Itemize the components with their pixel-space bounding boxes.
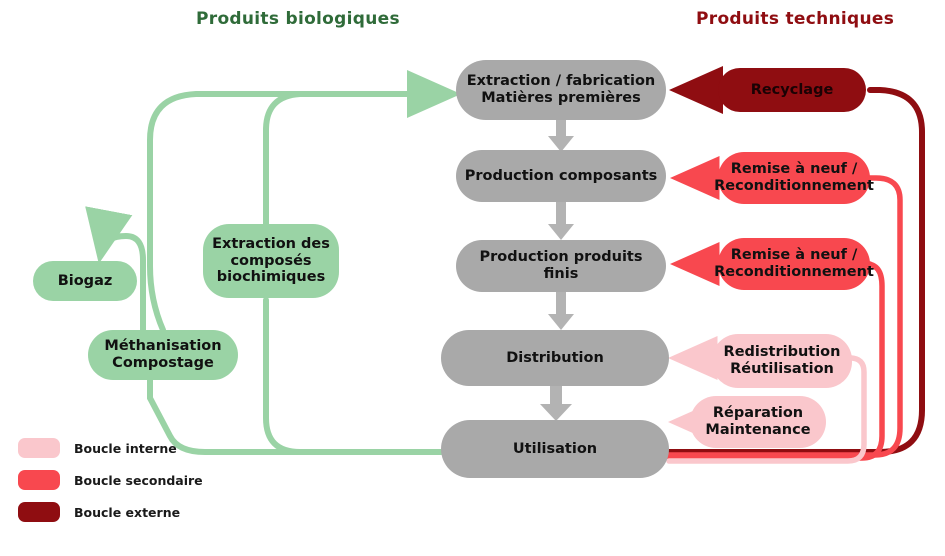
legend-label-secondaire: Boucle secondaire [74,473,203,488]
legend-swatch-externe [18,502,60,522]
node-line-1: Méthanisation [104,338,221,354]
legend: Boucle interne Boucle secondaire Boucle … [18,432,203,528]
node-line-2: Matières premières [481,90,641,106]
node-line-1: Redistribution [724,344,841,360]
node-extraction-composes-biochimiques[interactable]: Extraction des composés biochimiques [203,224,339,298]
node-line-2: Maintenance [705,422,810,438]
node-line-2: composés [230,253,311,269]
node-line-2: Reconditionnement [714,178,874,194]
node-line-3: biochimiques [217,269,325,285]
diagram-canvas: Produits biologiques Produits techniques… [0,0,945,556]
legend-swatch-interne [18,438,60,458]
node-biogaz[interactable]: Biogaz [33,261,137,301]
legend-swatch-secondaire [18,470,60,490]
node-redistribution-reutilisation[interactable]: Redistribution Réutilisation [712,334,852,388]
legend-item-externe: Boucle externe [18,496,203,528]
node-line-1: Utilisation [513,441,597,458]
node-line-1: Production composants [465,168,658,185]
node-utilisation[interactable]: Utilisation [441,420,669,478]
legend-label-externe: Boucle externe [74,505,180,520]
node-distribution[interactable]: Distribution [441,330,669,386]
node-remise-a-neuf-reconditionnement-1[interactable]: Remise à neuf / Reconditionnement [718,152,870,204]
node-line-1: Production produits finis [462,249,660,283]
node-line-2: Compostage [112,355,214,371]
node-line-2: Reconditionnement [714,264,874,280]
node-methanisation-compostage[interactable]: Méthanisation Compostage [88,330,238,380]
node-remise-a-neuf-reconditionnement-2[interactable]: Remise à neuf / Reconditionnement [718,238,870,290]
legend-item-interne: Boucle interne [18,432,203,464]
node-line-1: Réparation [713,405,803,421]
node-line-1: Biogaz [58,273,113,290]
node-line-1: Remise à neuf / [731,247,858,263]
node-line-1: Extraction / fabrication [467,73,655,89]
node-reparation-maintenance[interactable]: Réparation Maintenance [690,396,826,448]
node-line-1: Extraction des [212,236,330,252]
node-line-2: Réutilisation [730,361,834,377]
legend-label-interne: Boucle interne [74,441,177,456]
node-line-1: Distribution [506,350,604,367]
node-extraction-fabrication[interactable]: Extraction / fabrication Matières premiè… [456,60,666,120]
node-line-1: Remise à neuf / [731,161,858,177]
node-production-produits-finis[interactable]: Production produits finis [456,240,666,292]
title-technical: Produits techniques [696,9,894,29]
title-biological: Produits biologiques [196,9,400,29]
node-production-composants[interactable]: Production composants [456,150,666,202]
node-line-1: Recyclage [751,82,834,99]
legend-item-secondaire: Boucle secondaire [18,464,203,496]
node-recyclage[interactable]: Recyclage [718,68,866,112]
